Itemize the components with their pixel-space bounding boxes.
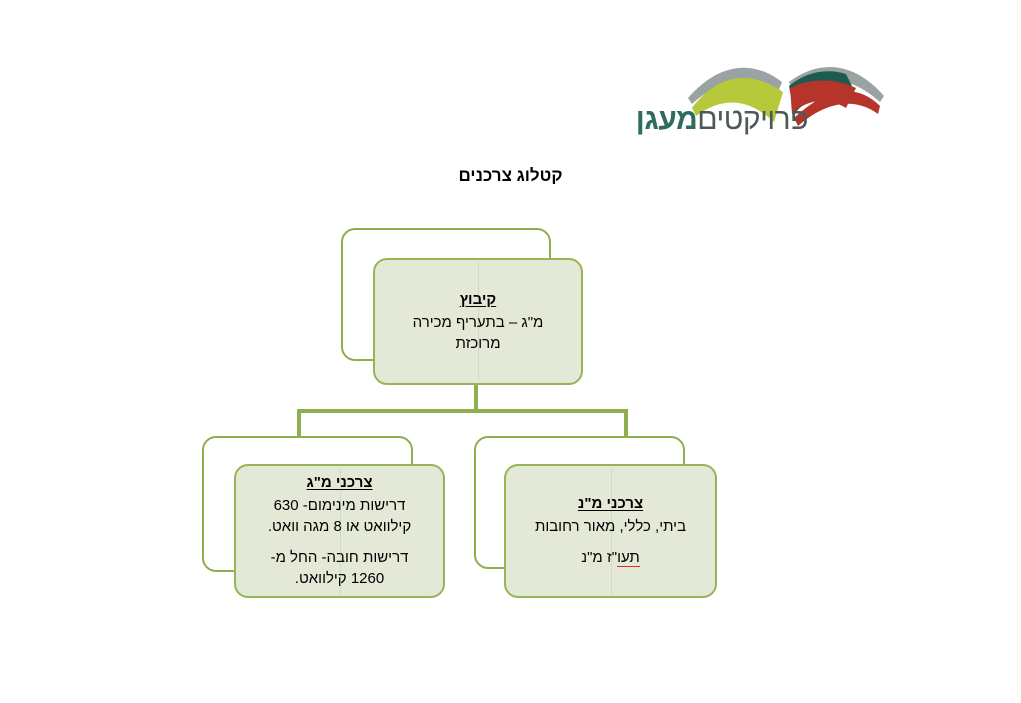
node-consumers-man-p1-line-1: ביתי, כללי, מאור רחובות	[535, 516, 686, 537]
node-consumers-man-p2-rest: "ז מ"נ	[581, 549, 617, 566]
node-consumers-man-title: צרכני מ"נ	[578, 494, 643, 514]
node-consumers-mag-p2-line-2: 1260 קילוואט.	[271, 568, 409, 589]
node-root-body-line-2: מרוכזת	[413, 333, 544, 354]
node-root-body-line-1: מ"ג – בתעריף מכירה	[413, 312, 544, 333]
node-consumers-mag-p2-line-1: דרישות חובה- החל מ-	[271, 547, 409, 568]
node-consumers-mag-paragraph-2: דרישות חובה- החל מ- 1260 קילוואט.	[271, 547, 409, 589]
company-logo: פרויקטיםמעגן	[578, 44, 886, 148]
node-consumers-man[interactable]: צרכני מ"נ ביתי, כללי, מאור רחובות תעו"ז …	[474, 436, 717, 598]
node-consumers-man-paragraph-2: תעו"ז מ"נ	[581, 547, 640, 568]
connector-left-drop	[297, 409, 301, 439]
node-root-front-panel[interactable]: קיבוץ מ"ג – בתעריף מכירה מרוכזת	[373, 258, 583, 385]
node-consumers-mag-front-panel[interactable]: צרכני מ"ג דרישות מינימום- 630 קילוואט או…	[234, 464, 445, 598]
connector-right-drop	[624, 409, 628, 439]
logo-wordmark: פרויקטיםמעגן	[578, 102, 808, 138]
node-consumers-mag-paragraph-1: דרישות מינימום- 630 קילוואט או 8 מגה ווא…	[268, 495, 411, 537]
document-page: פרויקטיםמעגן קטלוג צרכנים קיבוץ מ"ג – בת…	[0, 0, 1021, 703]
node-consumers-mag[interactable]: צרכני מ"ג דרישות מינימום- 630 קילוואט או…	[202, 436, 445, 598]
page-title-text: קטלוג צרכנים	[459, 166, 563, 186]
node-consumers-mag-p1-line-2: קילוואט או 8 מגה וואט.	[268, 516, 411, 537]
node-consumers-man-front-panel[interactable]: צרכני מ"נ ביתי, כללי, מאור רחובות תעו"ז …	[504, 464, 717, 598]
node-consumers-man-paragraph-1: ביתי, כללי, מאור רחובות	[535, 516, 686, 537]
logo-wordmark-bold: מעגן	[636, 103, 697, 136]
page-title: קטלוג צרכנים	[0, 166, 1021, 186]
node-consumers-man-p2-line-1: תעו"ז מ"נ	[581, 547, 640, 568]
connector-root-stem	[474, 383, 478, 411]
node-consumers-mag-p1-line-1: דרישות מינימום- 630	[268, 495, 411, 516]
spellcheck-underlined-word: תעו	[617, 549, 640, 567]
node-root-title: קיבוץ	[460, 290, 496, 310]
logo-wordmark-light: פרויקטים	[697, 103, 808, 136]
node-consumers-mag-title: צרכני מ"ג	[307, 473, 373, 493]
node-root[interactable]: קיבוץ מ"ג – בתעריף מכירה מרוכזת	[341, 228, 583, 385]
connector-horizontal-bus	[297, 409, 628, 413]
node-root-body: מ"ג – בתעריף מכירה מרוכזת	[413, 312, 544, 354]
